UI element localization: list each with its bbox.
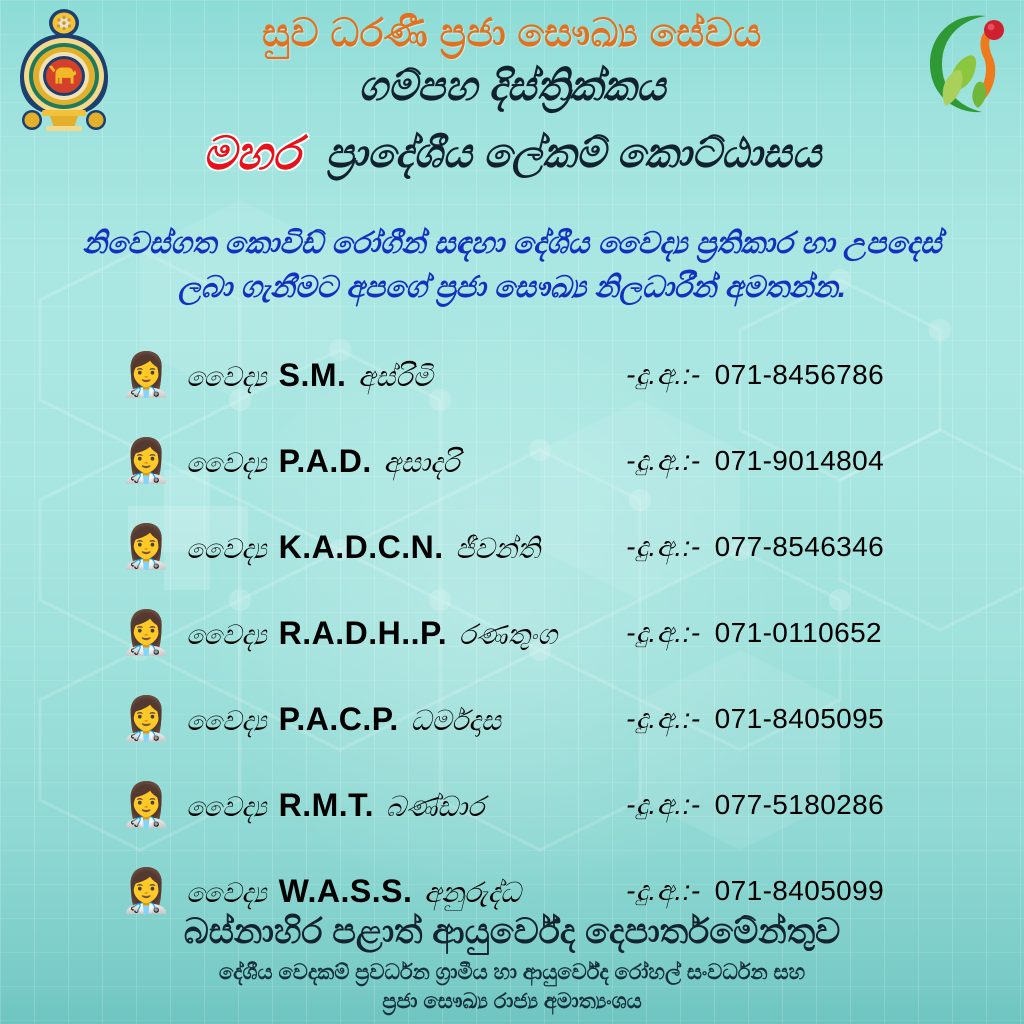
division-name: මහර xyxy=(203,126,300,182)
ministry-name-line-1: දේශීය වෙදකම් ප්‍රවර්ධන ග්‍රාමීය හා ආයුර්… xyxy=(0,959,1024,987)
woman-health-worker-icon: 👩‍⚕️ xyxy=(120,349,172,401)
contact-name-surname: අනුරුද්ධ xyxy=(424,877,521,908)
contact-name-prefix: වෛද්‍ය xyxy=(186,362,267,392)
contact-name: වෛද්‍ය P.A.D. අසාදරි xyxy=(186,443,626,480)
contact-name-prefix: වෛද්‍ය xyxy=(186,706,267,736)
contact-row: 👩‍⚕️ වෛද්‍ය R.A.D.H..P. රණතුංග -දු.අ.:- … xyxy=(120,590,930,676)
contact-phone[interactable]: -දු.අ.:- 071-9014804 xyxy=(626,445,930,478)
organization-title: සුව ධරණී ප්‍රජා සෞඛ්‍ය සේවය xyxy=(0,12,1024,57)
contact-name-initials: R.M.T. xyxy=(279,787,374,823)
phone-number[interactable]: 071-8405099 xyxy=(715,875,884,906)
contact-name-initials: P.A.C.P. xyxy=(279,701,399,737)
phone-number[interactable]: 071-8456786 xyxy=(715,359,884,390)
poster-footer: බස්නාහිර පළාත් ආයුර්වේද දෙපාර්තමේන්තුව ද… xyxy=(0,911,1024,1016)
contact-phone[interactable]: -දු.අ.:- 071-8405095 xyxy=(626,703,930,736)
phone-label: -දු.අ.:- xyxy=(626,703,700,734)
contact-row: 👩‍⚕️ වෛද්‍ය S.M. අස්රිමි -දු.අ.:- 071-84… xyxy=(120,332,930,418)
contact-name-prefix: වෛද්‍ය xyxy=(186,534,267,564)
contact-row: 👩‍⚕️ වෛද්‍ය K.A.D.C.N. ජීවන්ති -දු.අ.:- … xyxy=(120,504,930,590)
contact-name-initials: R.A.D.H..P. xyxy=(279,615,448,651)
phone-number[interactable]: 077-5180286 xyxy=(715,789,884,820)
woman-health-worker-icon: 👩‍⚕️ xyxy=(120,435,172,487)
contact-row: 👩‍⚕️ වෛද්‍ය P.A.D. අසාදරි -දු.අ.:- 071-9… xyxy=(120,418,930,504)
contact-phone[interactable]: -දු.අ.:- 071-8456786 xyxy=(626,359,930,392)
ministry-name-line-2: ප්‍රජා සෞඛ්‍ය රාජ්‍ය අමාත්‍යංශය xyxy=(0,988,1024,1016)
woman-health-worker-icon: 👩‍⚕️ xyxy=(120,521,172,573)
contact-name: වෛද්‍ය S.M. අස්රිමි xyxy=(186,357,626,394)
district-title: ගම්පහ දිස්ත්‍රික්කය xyxy=(0,63,1024,110)
contact-row: 👩‍⚕️ වෛද්‍ය P.A.C.P. ධර්මදාස -දු.අ.:- 07… xyxy=(120,676,930,762)
contact-phone[interactable]: -දු.අ.:- 071-8405099 xyxy=(626,875,930,908)
instruction-line-1: නිවෙස්ගත කොවිඩ් රෝගීන් සඳහා දේශීය වෛද්‍ය… xyxy=(0,222,1024,266)
contact-name: වෛද්‍ය P.A.C.P. ධර්මදාස xyxy=(186,701,626,738)
contact-name: වෛද්‍ය W.A.S.S. අනුරුද්ධ xyxy=(186,873,626,910)
contact-row: 👩‍⚕️ වෛද්‍ය R.M.T. බණ්ඩාර -දු.අ.:- 077-5… xyxy=(120,762,930,848)
contact-name: වෛද්‍ය R.M.T. බණ්ඩාර xyxy=(186,787,626,824)
division-label: ප්‍රාදේශීය ලේකම් කොට්ඨාසය xyxy=(326,130,821,178)
phone-number[interactable]: 071-0110652 xyxy=(715,617,882,648)
woman-health-worker-icon: 👩‍⚕️ xyxy=(120,865,172,917)
contact-phone[interactable]: -දු.අ.:- 071-0110652 xyxy=(626,617,930,650)
contact-name-prefix: වෛද්‍ය xyxy=(186,792,267,822)
poster-header: සුව ධරණී ප්‍රජා සෞඛ්‍ය සේවය ගම්පහ දිස්ත්… xyxy=(0,0,1024,182)
contact-name-surname: ජීවන්ති xyxy=(455,533,540,564)
woman-health-worker-icon: 👩‍⚕️ xyxy=(120,693,172,745)
contact-name-initials: W.A.S.S. xyxy=(279,873,413,909)
contact-name-surname: රණතුංග xyxy=(459,619,557,650)
instruction-line-2: ලබා ගැනීමට අපගේ ප්‍රජා සෞඛ්‍ය නිලධාරීන් … xyxy=(0,266,1024,310)
department-name: බස්නාහිර පළාත් ආයුර්වේද දෙපාර්තමේන්තුව xyxy=(0,911,1024,953)
contact-name-prefix: වෛද්‍ය xyxy=(186,620,267,650)
contact-name: වෛද්‍ය K.A.D.C.N. ජීවන්ති xyxy=(186,529,626,566)
contacts-list: 👩‍⚕️ වෛද්‍ය S.M. අස්රිමි -දු.අ.:- 071-84… xyxy=(120,332,930,934)
phone-label: -දු.අ.:- xyxy=(626,617,700,648)
phone-label: -දු.අ.:- xyxy=(626,531,700,562)
contact-name-prefix: වෛද්‍ය xyxy=(186,448,267,478)
division-row: මහර ප්‍රාදේශීය ලේකම් කොට්ඨාසය xyxy=(0,126,1024,182)
contact-name-initials: S.M. xyxy=(279,357,347,393)
contact-name-initials: K.A.D.C.N. xyxy=(279,529,444,565)
instruction-paragraph: නිවෙස්ගත කොවිඩ් රෝගීන් සඳහා දේශීය වෛද්‍ය… xyxy=(0,222,1024,309)
phone-label: -දු.අ.:- xyxy=(626,875,700,906)
poster-canvas: සුව ධරණී ප්‍රජා සෞඛ්‍ය සේවය ගම්පහ දිස්ත්… xyxy=(0,0,1024,1024)
contact-name-surname: අසාදරි xyxy=(383,447,459,478)
contact-name-surname: බණ්ඩාර xyxy=(386,791,484,822)
phone-number[interactable]: 071-8405095 xyxy=(715,703,884,734)
contact-name-initials: P.A.D. xyxy=(279,443,372,479)
phone-number[interactable]: 077-8546346 xyxy=(715,531,884,562)
phone-label: -දු.අ.:- xyxy=(626,789,700,820)
phone-number[interactable]: 071-9014804 xyxy=(715,445,884,476)
contact-phone[interactable]: -දු.අ.:- 077-5180286 xyxy=(626,789,930,822)
contact-name-surname: අස්රිමි xyxy=(358,361,432,392)
woman-health-worker-icon: 👩‍⚕️ xyxy=(120,607,172,659)
contact-phone[interactable]: -දු.අ.:- 077-8546346 xyxy=(626,531,930,564)
woman-health-worker-icon: 👩‍⚕️ xyxy=(120,779,172,831)
phone-label: -දු.අ.:- xyxy=(626,445,700,476)
contact-name-prefix: වෛද්‍ය xyxy=(186,878,267,908)
contact-name: වෛද්‍ය R.A.D.H..P. රණතුංග xyxy=(186,615,626,652)
contact-name-surname: ධර්මදාස xyxy=(411,705,501,736)
phone-label: -දු.අ.:- xyxy=(626,359,700,390)
